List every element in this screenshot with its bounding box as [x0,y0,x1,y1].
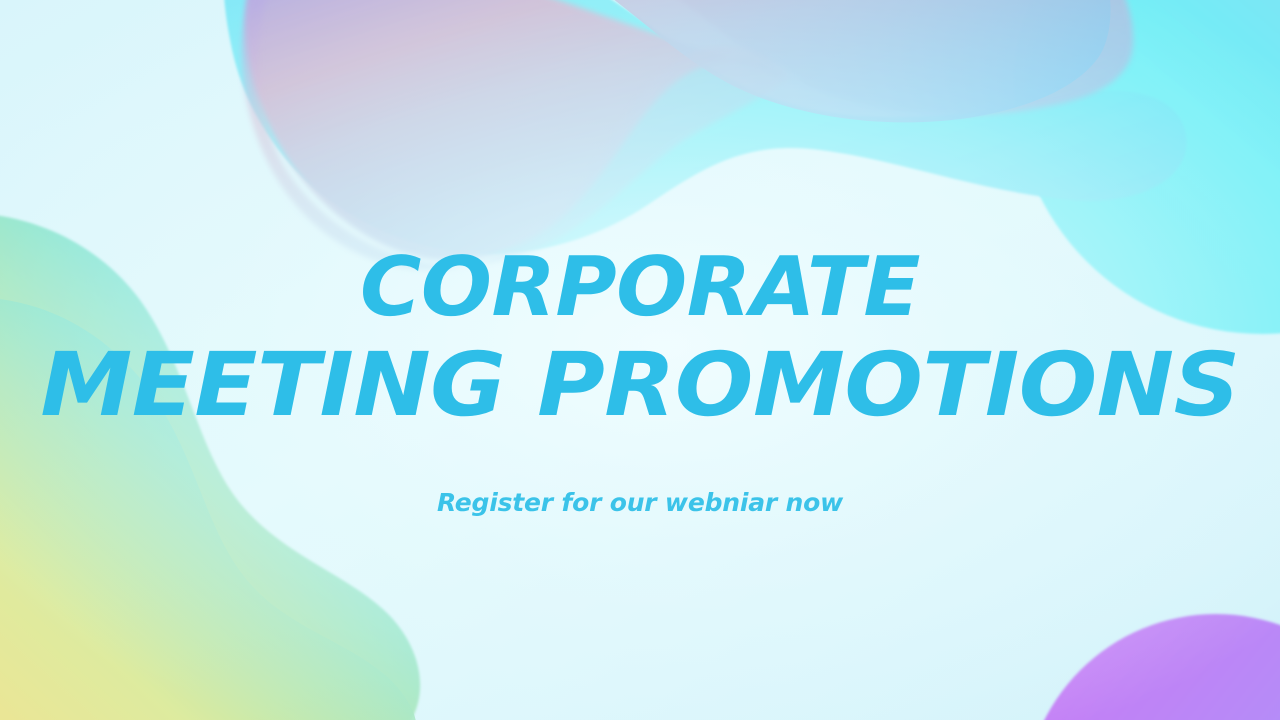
subtitle-text: Register for our webniar now [0,488,1280,517]
headline-line-2: MEETING PROMOTIONS [0,342,1280,428]
slide-content: CORPORATE MEETING PROMOTIONS Register fo… [0,0,1280,720]
promo-slide: CORPORATE MEETING PROMOTIONS Register fo… [0,0,1280,720]
page-title: CORPORATE MEETING PROMOTIONS [0,248,1280,429]
headline-line-1: CORPORATE [0,248,1280,328]
